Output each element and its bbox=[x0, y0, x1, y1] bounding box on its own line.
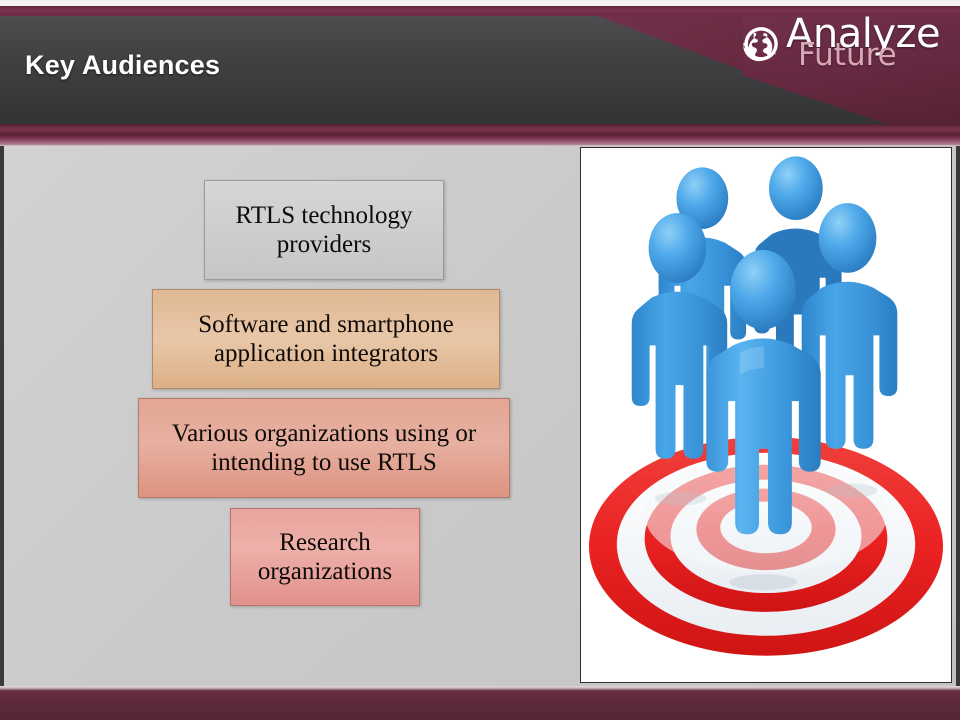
globe-icon bbox=[736, 20, 784, 68]
header-accent-band-bottom bbox=[0, 124, 960, 134]
logo-text: Analyze Future bbox=[786, 14, 940, 71]
audience-box-research-organizations[interactable]: Research organizations bbox=[230, 508, 420, 606]
target-audience-illustration bbox=[581, 148, 951, 682]
audience-box-various-organizations-using-or-intending-to-use-rtls[interactable]: Various organizations using or intending… bbox=[138, 398, 510, 498]
slide-bottom-band bbox=[0, 686, 960, 720]
page-title: Key Audiences bbox=[25, 50, 220, 81]
brand-logo[interactable]: Analyze Future bbox=[736, 14, 940, 86]
audience-box-rtls-technology-providers[interactable]: RTLS technology providers bbox=[204, 180, 444, 280]
body-accent-band bbox=[0, 134, 960, 146]
presentation-slide: Key Audiences Analyze Future RTLS techno… bbox=[0, 0, 960, 720]
audience-box-software-and-smartphone-application-integrators[interactable]: Software and smartphone application inte… bbox=[152, 289, 500, 389]
target-audience-image bbox=[580, 147, 952, 683]
target-audience-graphic bbox=[581, 148, 951, 682]
